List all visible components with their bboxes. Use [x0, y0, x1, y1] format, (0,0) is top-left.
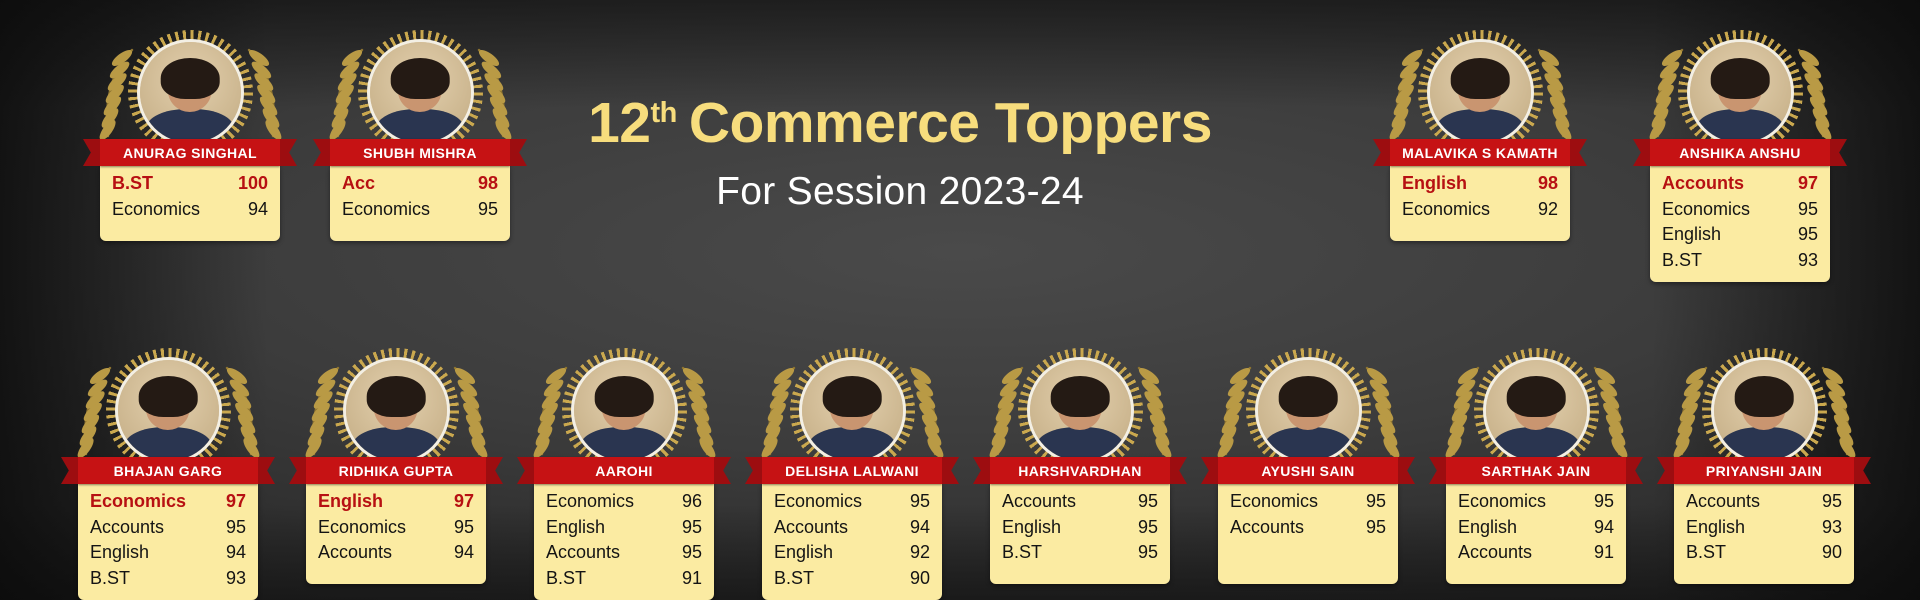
subject-score: 93 — [1822, 515, 1842, 541]
subject-label: Accounts — [546, 540, 620, 566]
topper-card[interactable]: AYUSHI SAIN Economics 95 Accounts 95 — [1218, 348, 1398, 584]
student-name-ribbon: DELISHA LALWANI — [762, 457, 942, 484]
subject-score: 95 — [478, 197, 498, 223]
subject-score: 94 — [910, 515, 930, 541]
avatar-hair — [391, 58, 450, 98]
student-name: HARSHVARDHAN — [1018, 463, 1142, 479]
title-ordinal-suffix: th — [650, 97, 676, 129]
student-name: ANSHIKA ANSHU — [1679, 145, 1801, 161]
avatar — [1027, 357, 1134, 464]
student-photo-wrap — [562, 348, 687, 473]
marks-panel: Accounts 97 Economics 95 English 95 B.ST… — [1650, 166, 1830, 282]
avatar — [1483, 357, 1590, 464]
avatar — [1687, 39, 1794, 146]
subject-score: 97 — [454, 489, 474, 515]
student-name: AYUSHI SAIN — [1261, 463, 1354, 479]
avatar — [343, 357, 450, 464]
subject-label: B.ST — [112, 171, 153, 197]
subject-label: English — [1002, 515, 1061, 541]
topper-card[interactable]: PRIYANSHI JAIN Accounts 95 English 93 B.… — [1674, 348, 1854, 584]
student-name-ribbon: AAROHI — [534, 457, 714, 484]
student-photo-wrap — [1246, 348, 1371, 473]
avatar — [367, 39, 474, 146]
mark-row: English 95 — [1662, 222, 1818, 248]
subject-label: Accounts — [1458, 540, 1532, 566]
avatar — [115, 357, 222, 464]
avatar-hair — [1051, 376, 1110, 416]
subject-score: 97 — [1798, 171, 1818, 197]
avatar-hair — [823, 376, 882, 416]
mark-row: English 98 — [1402, 171, 1558, 197]
marks-panel: Economics 95 English 94 Accounts 91 — [1446, 484, 1626, 584]
subject-score: 100 — [238, 171, 268, 197]
photo-decorative-ring — [334, 348, 459, 473]
subject-label: Accounts — [1230, 515, 1304, 541]
mark-row: B.ST 91 — [546, 566, 702, 592]
subject-label: Economics — [318, 515, 406, 541]
photo-decorative-ring — [1474, 348, 1599, 473]
subject-score: 91 — [1594, 540, 1614, 566]
student-photo-wrap — [1018, 348, 1143, 473]
subject-label: Economics — [1458, 489, 1546, 515]
title-rest: Commerce Toppers — [689, 91, 1212, 155]
subject-score: 95 — [1798, 222, 1818, 248]
subject-label: B.ST — [90, 566, 130, 592]
subject-label: Economics — [546, 489, 634, 515]
mark-row: English 92 — [774, 540, 930, 566]
mark-row: Accounts 94 — [318, 540, 474, 566]
subject-label: Economics — [1662, 197, 1750, 223]
student-name-ribbon: ANURAG SINGHAL — [100, 139, 280, 166]
subject-label: B.ST — [774, 566, 814, 592]
photo-decorative-ring — [790, 348, 915, 473]
marks-panel: Economics 97 Accounts 95 English 94 B.ST… — [78, 484, 258, 600]
subject-score: 95 — [1138, 540, 1158, 566]
photo-decorative-ring — [1702, 348, 1827, 473]
subject-label: English — [546, 515, 605, 541]
subject-label: English — [318, 489, 383, 515]
student-photo-wrap — [790, 348, 915, 473]
student-name-ribbon: RIDHIKA GUPTA — [306, 457, 486, 484]
subject-score: 94 — [1594, 515, 1614, 541]
avatar-hair — [161, 58, 220, 98]
topper-card[interactable]: ANURAG SINGHAL B.ST 100 Economics 94 — [100, 30, 280, 241]
subject-label: Accounts — [90, 515, 164, 541]
subject-label: Economics — [774, 489, 862, 515]
subject-score: 91 — [682, 566, 702, 592]
marks-panel: English 97 Economics 95 Accounts 94 — [306, 484, 486, 584]
marks-panel: Economics 95 Accounts 94 English 92 B.ST… — [762, 484, 942, 600]
topper-card[interactable]: ANSHIKA ANSHU Accounts 97 Economics 95 E… — [1650, 30, 1830, 282]
subject-label: English — [1458, 515, 1517, 541]
student-name: ANURAG SINGHAL — [123, 145, 257, 161]
subject-label: English — [1402, 171, 1467, 197]
subject-label: English — [90, 540, 149, 566]
subject-score: 98 — [1538, 171, 1558, 197]
topper-card[interactable]: SARTHAK JAIN Economics 95 English 94 Acc… — [1446, 348, 1626, 584]
page-title: 12thCommerce Toppers — [560, 95, 1240, 152]
mark-row: B.ST 90 — [774, 566, 930, 592]
mark-row: English 97 — [318, 489, 474, 515]
subject-score: 95 — [1366, 515, 1386, 541]
mark-row: Accounts 97 — [1662, 171, 1818, 197]
subject-score: 92 — [910, 540, 930, 566]
mark-row: Economics 95 — [342, 197, 498, 223]
student-name: SHUBH MISHRA — [363, 145, 477, 161]
student-name-ribbon: HARSHVARDHAN — [990, 457, 1170, 484]
mark-row: Accounts 95 — [1686, 489, 1842, 515]
avatar-hair — [595, 376, 654, 416]
subject-score: 95 — [682, 515, 702, 541]
subject-score: 95 — [682, 540, 702, 566]
subject-label: Economics — [90, 489, 186, 515]
subject-score: 95 — [1798, 197, 1818, 223]
subject-score: 94 — [454, 540, 474, 566]
subject-score: 95 — [910, 489, 930, 515]
subject-label: Accounts — [318, 540, 392, 566]
marks-panel: Acc 98 Economics 95 — [330, 166, 510, 241]
avatar — [1255, 357, 1362, 464]
subject-label: Accounts — [1686, 489, 1760, 515]
avatar-hair — [367, 376, 426, 416]
mark-row: Economics 95 — [318, 515, 474, 541]
topper-card[interactable]: MALAVIKA S KAMATH English 98 Economics 9… — [1390, 30, 1570, 241]
avatar-hair — [1735, 376, 1794, 416]
marks-panel: Economics 96 English 95 Accounts 95 B.ST… — [534, 484, 714, 600]
mark-row: Economics 92 — [1402, 197, 1558, 223]
mark-row: Accounts 95 — [90, 515, 246, 541]
mark-row: English 93 — [1686, 515, 1842, 541]
title-number: 12 — [588, 91, 650, 155]
subject-score: 96 — [682, 489, 702, 515]
page-subtitle: For Session 2023-24 — [560, 170, 1240, 214]
topper-card[interactable]: DELISHA LALWANI Economics 95 Accounts 94… — [762, 348, 942, 600]
subject-score: 98 — [478, 171, 498, 197]
mark-row: English 94 — [1458, 515, 1614, 541]
mark-row: Economics 95 — [1458, 489, 1614, 515]
photo-decorative-ring — [106, 348, 231, 473]
student-name: SARTHAK JAIN — [1481, 463, 1590, 479]
subject-score: 95 — [1138, 515, 1158, 541]
subject-label: English — [1686, 515, 1745, 541]
photo-decorative-ring — [1018, 348, 1143, 473]
mark-row: Economics 95 — [1230, 489, 1386, 515]
mark-row: Accounts 95 — [546, 540, 702, 566]
subject-score: 97 — [226, 489, 246, 515]
marks-panel: Economics 95 Accounts 95 — [1218, 484, 1398, 584]
mark-row: Economics 95 — [1662, 197, 1818, 223]
photo-decorative-ring — [1678, 30, 1803, 155]
subject-score: 95 — [1366, 489, 1386, 515]
subject-score: 90 — [1822, 540, 1842, 566]
student-name-ribbon: PRIYANSHI JAIN — [1674, 457, 1854, 484]
student-photo-wrap — [358, 30, 483, 155]
mark-row: Economics 95 — [774, 489, 930, 515]
subject-label: English — [1662, 222, 1721, 248]
subject-label: Economics — [342, 197, 430, 223]
student-name: MALAVIKA S KAMATH — [1402, 145, 1558, 161]
subject-score: 95 — [226, 515, 246, 541]
avatar-hair — [1279, 376, 1338, 416]
subject-score: 95 — [1138, 489, 1158, 515]
subject-label: Accounts — [774, 515, 848, 541]
mark-row: B.ST 95 — [1002, 540, 1158, 566]
student-name: PRIYANSHI JAIN — [1706, 463, 1822, 479]
mark-row: Economics 94 — [112, 197, 268, 223]
subject-score: 95 — [1822, 489, 1842, 515]
avatar — [137, 39, 244, 146]
photo-decorative-ring — [358, 30, 483, 155]
topper-card[interactable]: RIDHIKA GUPTA English 97 Economics 95 Ac… — [306, 348, 486, 584]
student-name-ribbon: MALAVIKA S KAMATH — [1390, 139, 1570, 166]
toppers-banner: 12thCommerce Toppers For Session 2023-24… — [0, 0, 1920, 600]
subject-score: 95 — [1594, 489, 1614, 515]
mark-row: Accounts 95 — [1002, 489, 1158, 515]
mark-row: Acc 98 — [342, 171, 498, 197]
avatar — [571, 357, 678, 464]
mark-row: B.ST 93 — [1662, 248, 1818, 274]
student-photo-wrap — [106, 348, 231, 473]
student-photo-wrap — [1678, 30, 1803, 155]
mark-row: Accounts 95 — [1230, 515, 1386, 541]
avatar — [1711, 357, 1818, 464]
topper-card[interactable]: AAROHI Economics 96 English 95 Accounts … — [534, 348, 714, 600]
student-name: BHAJAN GARG — [114, 463, 223, 479]
student-name-ribbon: SARTHAK JAIN — [1446, 457, 1626, 484]
avatar-hair — [1711, 58, 1770, 98]
subject-score: 92 — [1538, 197, 1558, 223]
avatar-hair — [1451, 58, 1510, 98]
mark-row: Economics 97 — [90, 489, 246, 515]
photo-decorative-ring — [128, 30, 253, 155]
marks-panel: B.ST 100 Economics 94 — [100, 166, 280, 241]
student-name: RIDHIKA GUPTA — [339, 463, 454, 479]
subject-label: B.ST — [1662, 248, 1702, 274]
avatar — [1427, 39, 1534, 146]
mark-row: B.ST 90 — [1686, 540, 1842, 566]
subject-score: 93 — [226, 566, 246, 592]
student-name-ribbon: ANSHIKA ANSHU — [1650, 139, 1830, 166]
topper-card[interactable]: BHAJAN GARG Economics 97 Accounts 95 Eng… — [78, 348, 258, 600]
mark-row: B.ST 100 — [112, 171, 268, 197]
subject-label: English — [774, 540, 833, 566]
avatar-hair — [139, 376, 198, 416]
student-name: AAROHI — [595, 463, 653, 479]
subject-label: B.ST — [1002, 540, 1042, 566]
topper-card[interactable]: SHUBH MISHRA Acc 98 Economics 95 — [330, 30, 510, 241]
student-name-ribbon: BHAJAN GARG — [78, 457, 258, 484]
student-photo-wrap — [334, 348, 459, 473]
photo-decorative-ring — [1246, 348, 1371, 473]
avatar-hair — [1507, 376, 1566, 416]
mark-row: English 94 — [90, 540, 246, 566]
subject-score: 93 — [1798, 248, 1818, 274]
mark-row: English 95 — [1002, 515, 1158, 541]
subject-score: 94 — [248, 197, 268, 223]
topper-card[interactable]: HARSHVARDHAN Accounts 95 English 95 B.ST… — [990, 348, 1170, 584]
mark-row: Economics 96 — [546, 489, 702, 515]
subject-label: Economics — [1230, 489, 1318, 515]
banner-title-block: 12thCommerce Toppers For Session 2023-24 — [560, 95, 1240, 214]
subject-label: Economics — [1402, 197, 1490, 223]
marks-panel: English 98 Economics 92 — [1390, 166, 1570, 241]
student-photo-wrap — [1418, 30, 1543, 155]
subject-score: 95 — [454, 515, 474, 541]
student-name: DELISHA LALWANI — [785, 463, 919, 479]
student-name-ribbon: SHUBH MISHRA — [330, 139, 510, 166]
photo-decorative-ring — [1418, 30, 1543, 155]
student-photo-wrap — [128, 30, 253, 155]
subject-score: 94 — [226, 540, 246, 566]
student-photo-wrap — [1702, 348, 1827, 473]
subject-score: 90 — [910, 566, 930, 592]
marks-panel: Accounts 95 English 95 B.ST 95 — [990, 484, 1170, 584]
mark-row: Accounts 94 — [774, 515, 930, 541]
avatar — [799, 357, 906, 464]
subject-label: B.ST — [1686, 540, 1726, 566]
mark-row: English 95 — [546, 515, 702, 541]
student-name-ribbon: AYUSHI SAIN — [1218, 457, 1398, 484]
subject-label: Acc — [342, 171, 375, 197]
mark-row: Accounts 91 — [1458, 540, 1614, 566]
marks-panel: Accounts 95 English 93 B.ST 90 — [1674, 484, 1854, 584]
student-photo-wrap — [1474, 348, 1599, 473]
subject-label: B.ST — [546, 566, 586, 592]
photo-decorative-ring — [562, 348, 687, 473]
mark-row: B.ST 93 — [90, 566, 246, 592]
subject-label: Accounts — [1002, 489, 1076, 515]
subject-label: Economics — [112, 197, 200, 223]
subject-label: Accounts — [1662, 171, 1744, 197]
